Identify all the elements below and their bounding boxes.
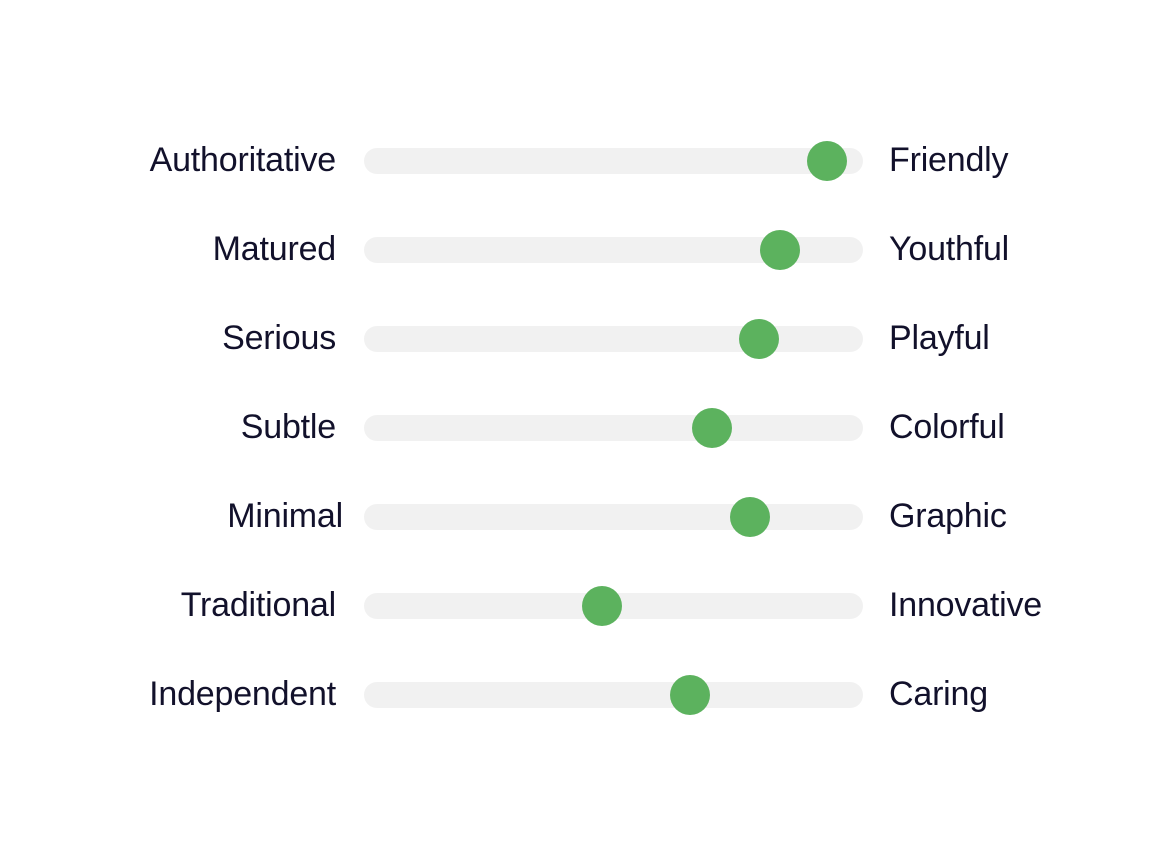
slider-right-label: Colorful bbox=[889, 408, 1005, 447]
slider-right-label: Playful bbox=[889, 319, 990, 358]
slider-left-label: Subtle bbox=[0, 408, 336, 447]
brand-personality-slider-panel: Authoritative Friendly Matured Youthful … bbox=[0, 0, 1157, 858]
slider-track[interactable] bbox=[364, 415, 863, 441]
slider-row: Authoritative Friendly bbox=[0, 116, 1157, 205]
slider-thumb[interactable] bbox=[582, 586, 622, 626]
slider-left-label: Matured bbox=[0, 230, 336, 269]
slider-right-label: Youthful bbox=[889, 230, 1009, 269]
slider-thumb[interactable] bbox=[730, 497, 770, 537]
slider-track-area[interactable] bbox=[364, 584, 863, 628]
slider-track[interactable] bbox=[364, 682, 863, 708]
slider-thumb[interactable] bbox=[807, 141, 847, 181]
slider-track-area[interactable] bbox=[364, 495, 863, 539]
slider-row: Independent Caring bbox=[0, 650, 1157, 739]
slider-left-label: Serious bbox=[0, 319, 336, 358]
slider-track-area[interactable] bbox=[364, 317, 863, 361]
slider-right-label: Caring bbox=[889, 675, 988, 714]
slider-left-label: Authoritative bbox=[0, 141, 336, 180]
slider-left-label: Traditional bbox=[0, 586, 336, 625]
slider-track-area[interactable] bbox=[364, 139, 863, 183]
slider-thumb[interactable] bbox=[670, 675, 710, 715]
slider-row: Traditional Innovative bbox=[0, 561, 1157, 650]
slider-row: Matured Youthful bbox=[0, 205, 1157, 294]
slider-row-list: Authoritative Friendly Matured Youthful … bbox=[0, 116, 1157, 739]
slider-track-area[interactable] bbox=[364, 673, 863, 717]
slider-row: Serious Playful bbox=[0, 294, 1157, 383]
slider-track[interactable] bbox=[364, 148, 863, 174]
slider-row: Minimal Graphic bbox=[0, 472, 1157, 561]
slider-row: Subtle Colorful bbox=[0, 383, 1157, 472]
slider-track[interactable] bbox=[364, 504, 863, 530]
slider-thumb[interactable] bbox=[739, 319, 779, 359]
slider-track-area[interactable] bbox=[364, 406, 863, 450]
slider-right-label: Graphic bbox=[889, 497, 1007, 536]
slider-left-label: Minimal bbox=[0, 497, 343, 536]
slider-track-area[interactable] bbox=[364, 228, 863, 272]
slider-track[interactable] bbox=[364, 326, 863, 352]
slider-thumb[interactable] bbox=[692, 408, 732, 448]
slider-thumb[interactable] bbox=[760, 230, 800, 270]
slider-right-label: Innovative bbox=[889, 586, 1042, 625]
slider-right-label: Friendly bbox=[889, 141, 1008, 180]
slider-left-label: Independent bbox=[0, 675, 336, 714]
